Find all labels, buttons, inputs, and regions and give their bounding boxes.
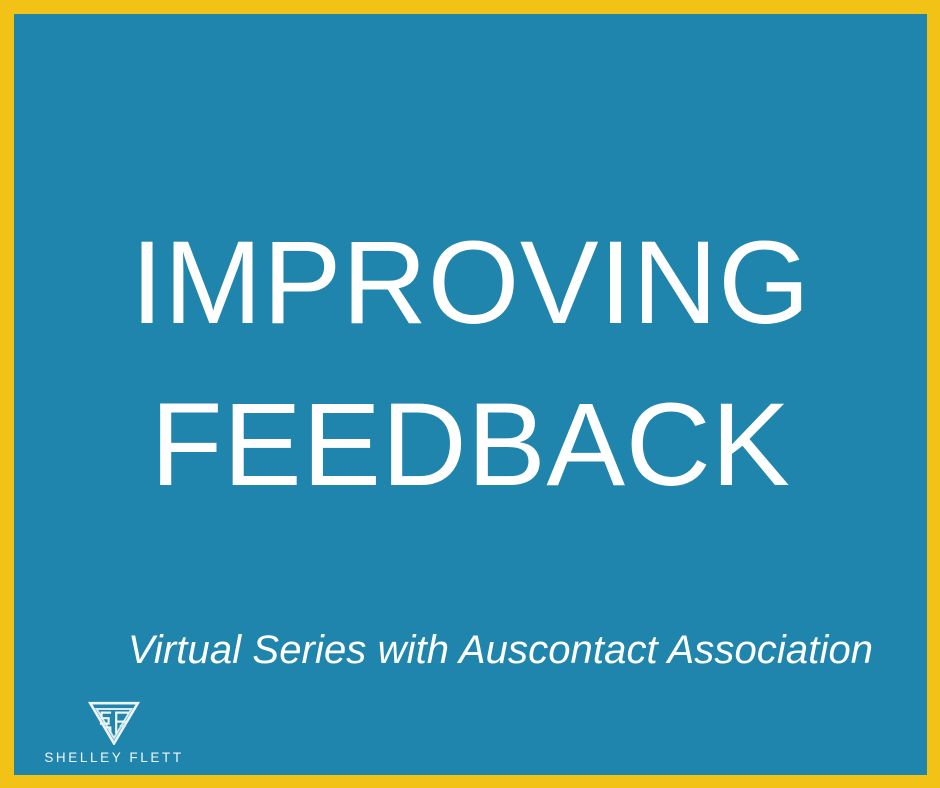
headline-line-1: IMPROVING: [14, 200, 927, 368]
brand-logo-lockup: SHELLEY FLETT: [34, 701, 194, 765]
page-title: IMPROVING FEEDBACK: [14, 200, 927, 529]
headline-line-2: FEEDBACK: [14, 362, 927, 530]
poster-canvas: IMPROVING FEEDBACK Virtual Series with A…: [0, 0, 940, 788]
shelley-flett-triangle-sf-monogram-icon: [88, 701, 140, 745]
poster-inner-field: IMPROVING FEEDBACK Virtual Series with A…: [14, 14, 927, 775]
brand-wordmark: SHELLEY FLETT: [34, 750, 194, 765]
subtitle: Virtual Series with Auscontact Associati…: [14, 626, 927, 674]
subtitle-text: Virtual Series with Auscontact Associati…: [128, 628, 873, 672]
